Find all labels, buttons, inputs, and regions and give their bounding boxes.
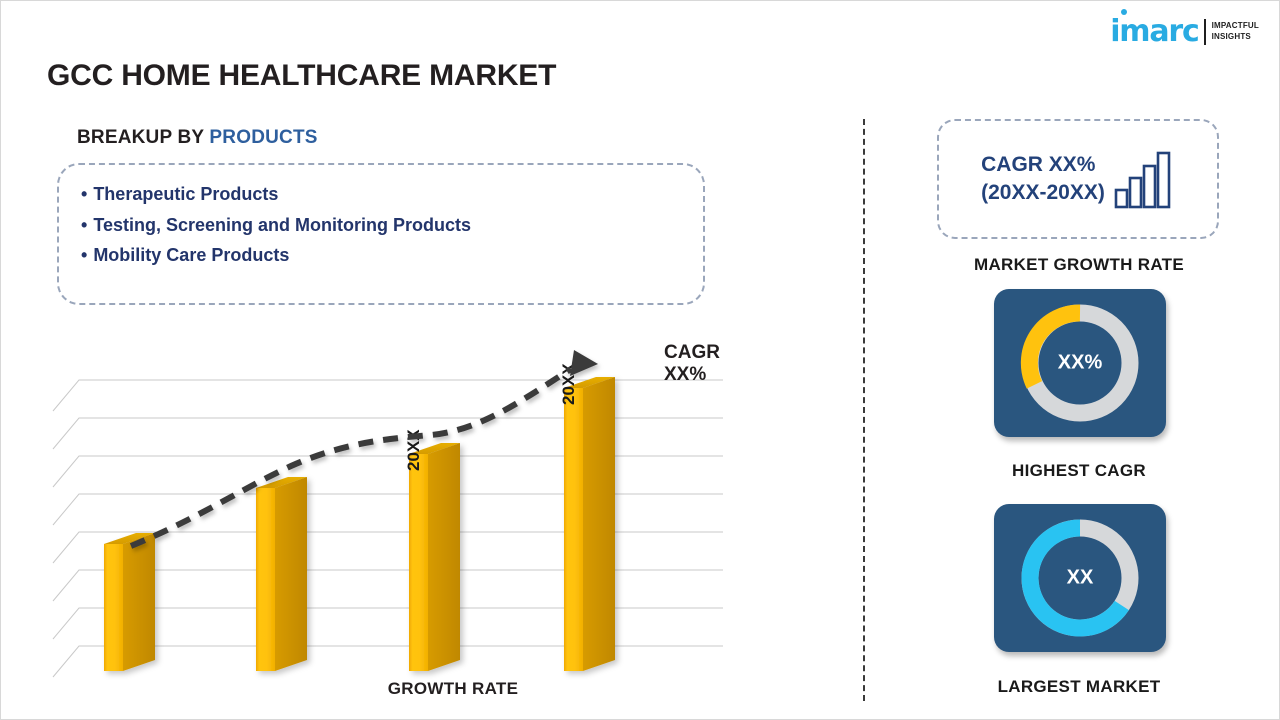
bullet-icon: • [81,215,87,235]
imarc-logo: imarc IMPACTFUL INSIGHTS [1110,15,1259,49]
logo-wordmark-text: imarc [1110,14,1198,49]
caption-highest-cagr: HIGHEST CAGR [881,461,1277,481]
list-item: •Mobility Care Products [81,240,681,271]
list-item: •Therapeutic Products [81,179,681,210]
logo-tagline-line2: INSIGHTS [1212,32,1259,43]
breakup-heading: BREAKUP BY PRODUCTS [77,127,318,149]
bar-2 [256,477,307,671]
page-title: GCC HOME HEALTHCARE MARKET [47,59,556,93]
logo-tagline-line1: IMPACTFUL [1212,21,1259,32]
chart-cagr-callout: CAGR XX% [664,342,751,386]
list-item-label: Therapeutic Products [93,184,278,204]
cagr-summary-line1: CAGR XX% [981,151,1105,179]
bullet-icon: • [81,184,87,204]
breakup-heading-prefix: BREAKUP BY [77,127,209,148]
bar-4 [564,377,615,671]
bullet-icon: • [81,245,87,265]
kpi-value-largest-market: XX [994,567,1166,590]
caption-largest-market: LARGEST MARKET [881,677,1277,697]
trend-arrow-icon [570,350,598,376]
list-item-label: Mobility Care Products [93,245,289,265]
logo-tagline: IMPACTFUL INSIGHTS [1212,21,1259,43]
chart-svg: 20XX 20XX [51,331,751,681]
chart-x-axis-label: GROWTH RATE [348,679,558,699]
slide-canvas: imarc IMPACTFUL INSIGHTS GCC HOME HEALTH… [0,0,1280,720]
breakup-heading-accent: PRODUCTS [209,127,317,148]
kpi-value-highest-cagr: XX% [994,352,1166,375]
bar-chart-icon [1113,148,1175,210]
cagr-summary-text: CAGR XX% (20XX-20XX) [981,151,1105,207]
kpi-card-largest-market: XX [994,504,1166,652]
logo-wordmark: imarc [1110,17,1198,47]
cagr-summary-line2: (20XX-20XX) [981,179,1105,207]
bar-3 [409,443,460,671]
bar-1 [104,533,155,671]
vertical-divider [863,119,865,701]
kpi-card-highest-cagr: XX% [994,289,1166,437]
kpi-panel: CAGR XX% (20XX-20XX) MARKET GROWTH RATE … [881,119,1277,701]
logo-divider [1204,19,1206,45]
growth-bar-chart: 20XX 20XX CAGR XX% GROWTH RATE [51,331,751,681]
list-item: •Testing, Screening and Monitoring Produ… [81,210,681,241]
segment-list-box: •Therapeutic Products •Testing, Screenin… [57,163,705,305]
list-item-label: Testing, Screening and Monitoring Produc… [93,215,471,235]
trend-line [131,350,598,546]
caption-market-growth-rate: MARKET GROWTH RATE [881,255,1277,275]
cagr-summary-box: CAGR XX% (20XX-20XX) [937,119,1219,239]
